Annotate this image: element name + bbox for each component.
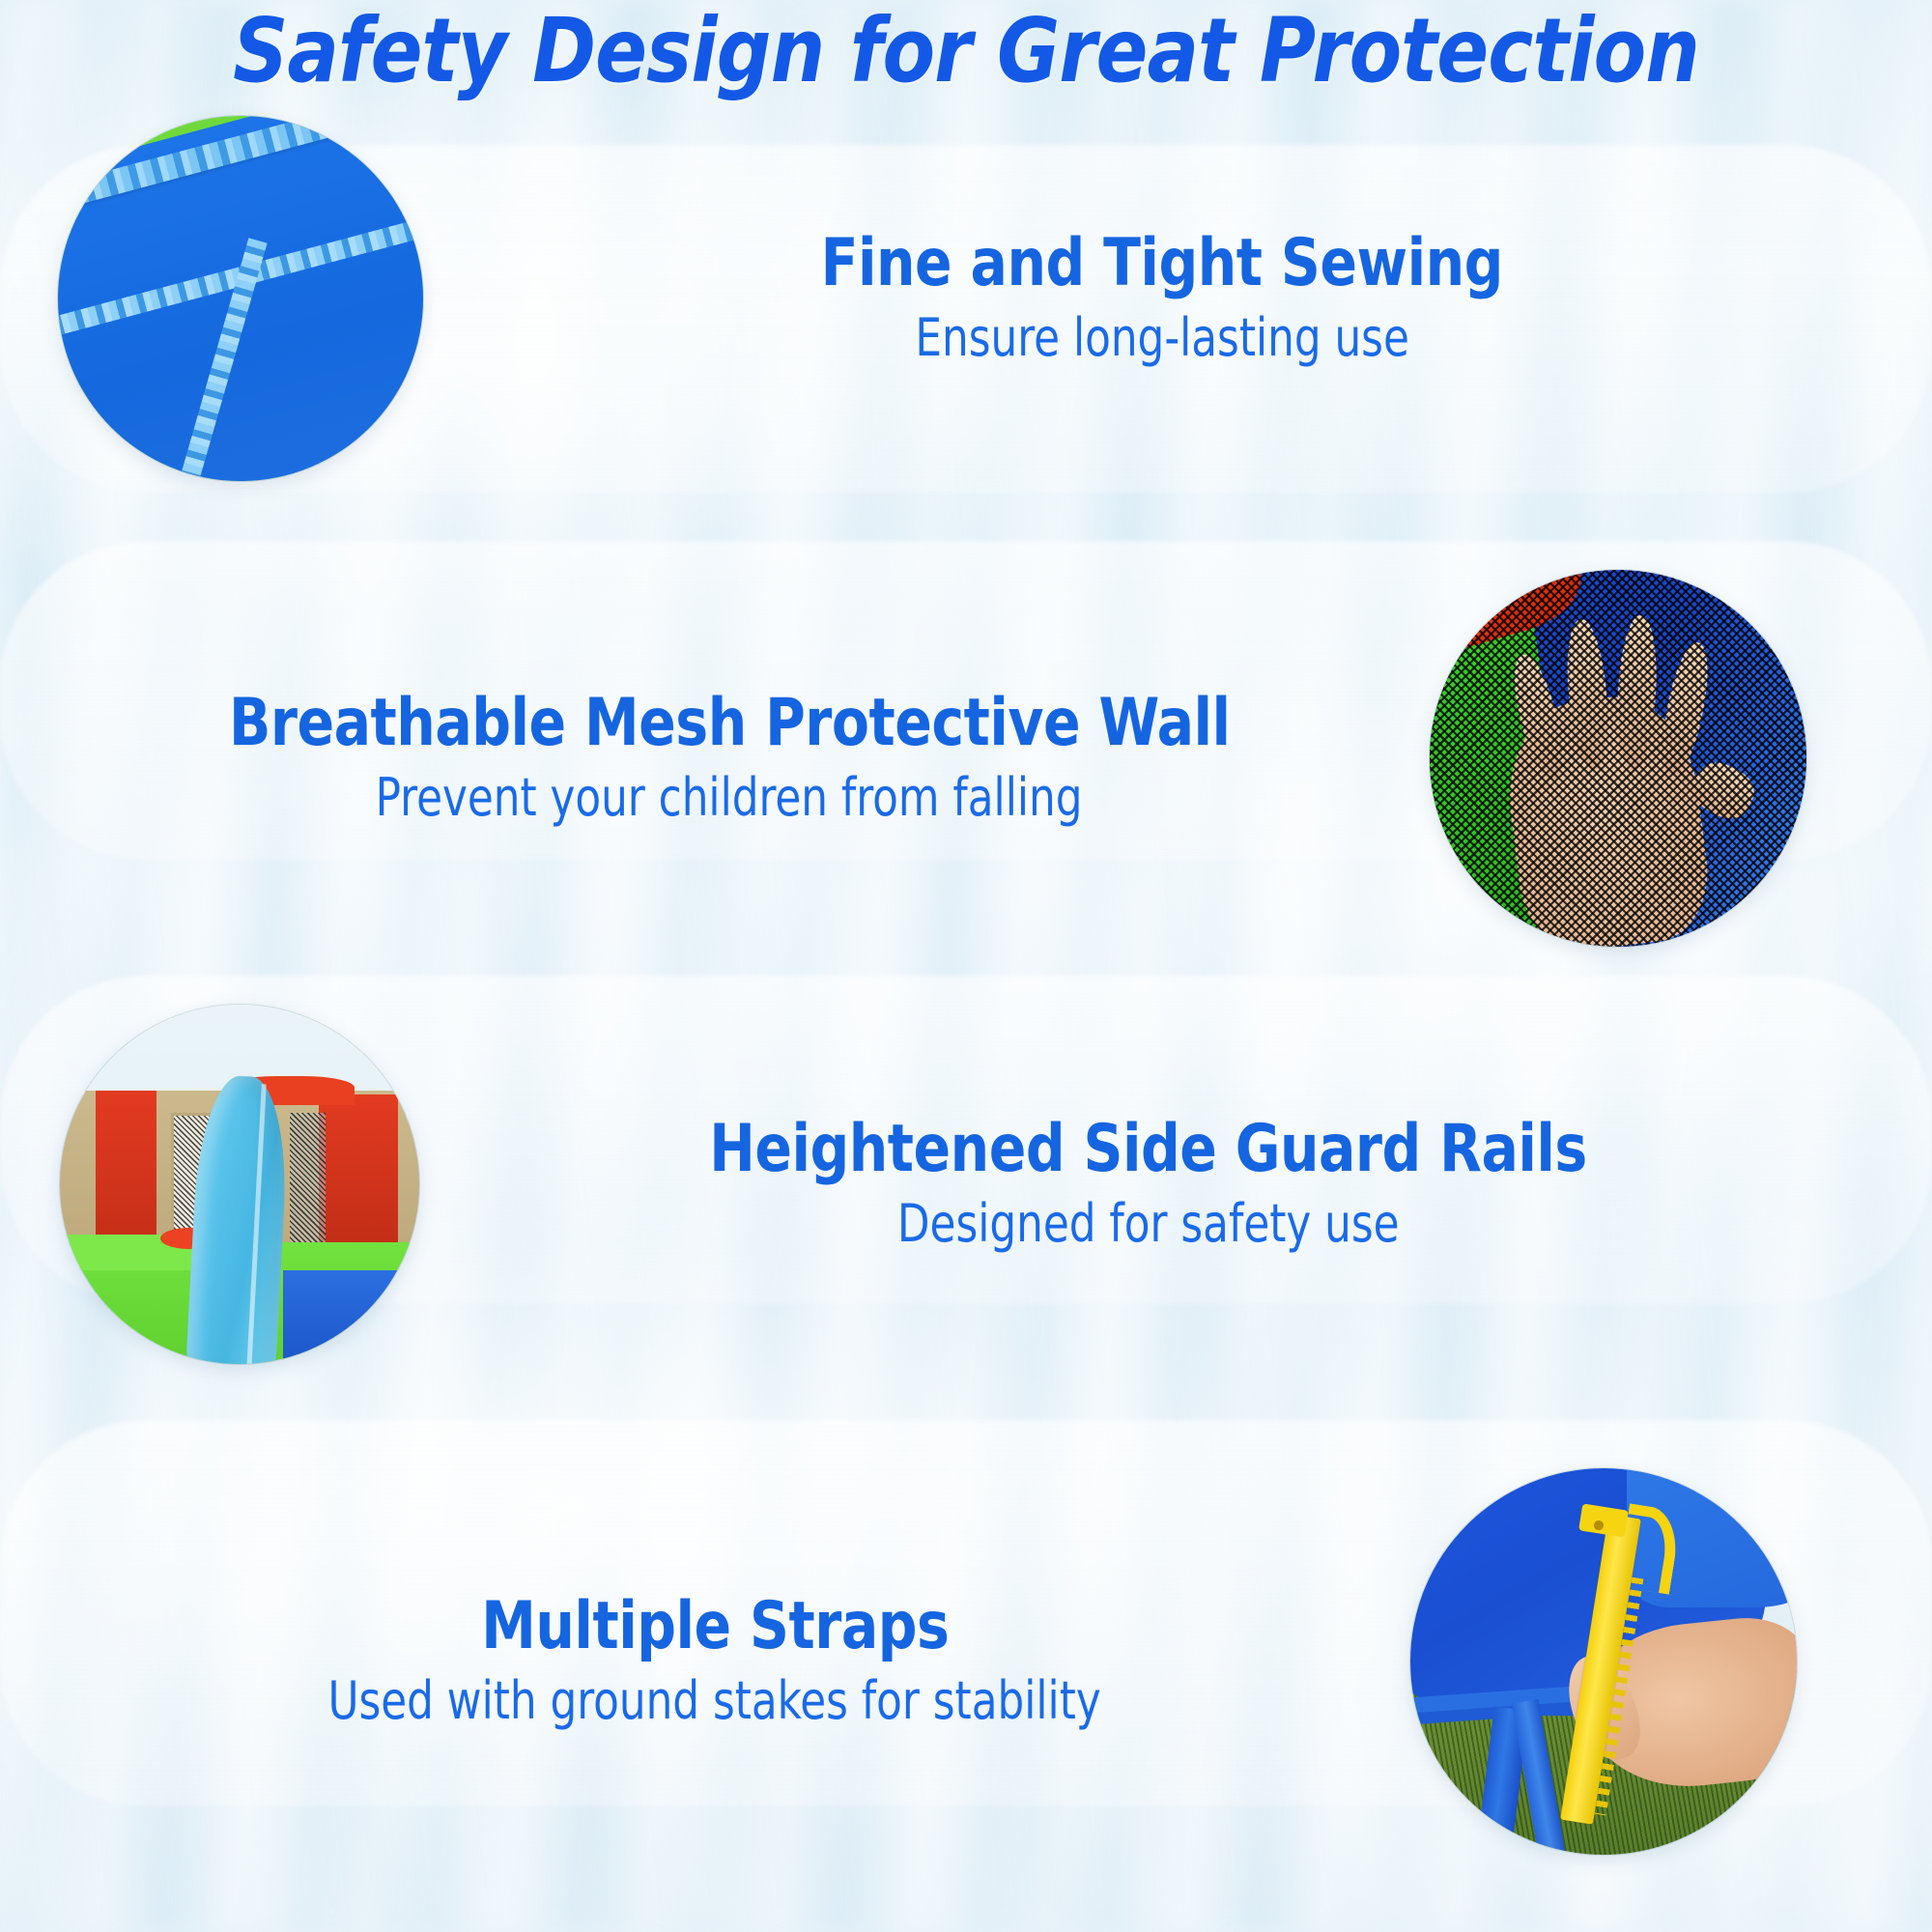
page-title: Safety Design for Great Protection	[39, 6, 1893, 97]
stake-hole	[1593, 1520, 1604, 1530]
feature-heading: Heightened Side Guard Rails	[710, 1116, 1588, 1184]
feature-row-fine-and-tight-sewing: Fine and Tight Sewing Ensure long-lastin…	[58, 116, 1874, 481]
feature-subtitle: Used with ground stakes for stability	[328, 1673, 1101, 1729]
feature-row-multiple-straps: Multiple Straps Used with ground stakes …	[58, 1468, 1874, 1855]
mesh-net-overlay	[1430, 570, 1806, 947]
feature-row-breathable-mesh-protective-wall: Breathable Mesh Protective Wall Prevent …	[58, 570, 1874, 947]
feature-text-fine-and-tight-sewing: Fine and Tight Sewing Ensure long-lastin…	[568, 230, 1756, 366]
ground-stake-strap-photo	[1410, 1468, 1797, 1855]
side-guard-rail-photo	[60, 1005, 419, 1364]
feature-subtitle: Designed for safety use	[897, 1196, 1400, 1252]
feature-heading: Fine and Tight Sewing	[821, 230, 1503, 298]
sewing-detail-photo	[58, 116, 423, 481]
feature-heading: Multiple Straps	[481, 1593, 949, 1662]
mesh-wall-photo	[1430, 570, 1806, 947]
mesh-window-right	[290, 1113, 326, 1249]
feature-subtitle: Prevent your children from falling	[376, 770, 1083, 826]
feature-text-heightened-side-guard-rails: Heightened Side Guard Rails Designed for…	[526, 1116, 1772, 1252]
feature-text-breathable-mesh-protective-wall: Breathable Mesh Protective Wall Prevent …	[58, 690, 1401, 826]
feature-text-multiple-straps: Multiple Straps Used with ground stakes …	[58, 1593, 1372, 1729]
feature-subtitle: Ensure long-lasting use	[915, 310, 1408, 366]
blue-floor-section	[283, 1270, 419, 1364]
feature-heading: Breathable Mesh Protective Wall	[229, 690, 1231, 758]
feature-row-heightened-side-guard-rails: Heightened Side Guard Rails Designed for…	[60, 1005, 1876, 1364]
red-wall-panel-right	[319, 1094, 398, 1264]
